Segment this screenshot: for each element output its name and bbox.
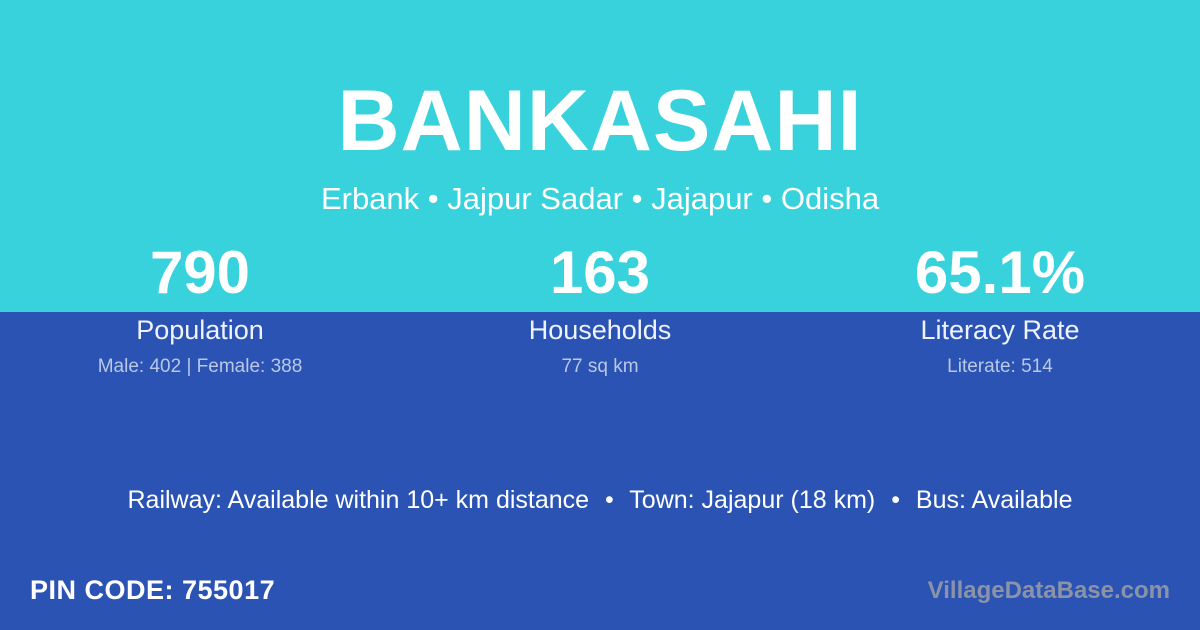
page-title: BANKASAHI <box>0 78 1200 164</box>
stats-row: 790 Population Male: 402 | Female: 388 1… <box>0 243 1200 376</box>
stat-value-population: 790 <box>0 243 400 307</box>
village-info-card: BANKASAHI Erbank • Jajpur Sadar • Jajapu… <box>0 0 1200 630</box>
stat-literacy-rate: 65.1% Literacy Rate Literate: 514 <box>800 243 1200 376</box>
stat-value-households: 163 <box>400 243 800 307</box>
card-header: BANKASAHI Erbank • Jajpur Sadar • Jajapu… <box>0 0 1200 214</box>
breadcrumb: Erbank • Jajpur Sadar • Jajapur • Odisha <box>0 183 1200 214</box>
bullet-separator-icon: • <box>596 485 623 515</box>
stat-value-literacy-rate: 65.1% <box>800 243 1200 307</box>
stat-households: 163 Households 77 sq km <box>400 243 800 376</box>
infra-town: Town: Jajapur (18 km) <box>629 486 875 514</box>
stat-population: 790 Population Male: 402 | Female: 388 <box>0 243 400 376</box>
infra-railway: Railway: Available within 10+ km distanc… <box>127 486 589 514</box>
stat-sub-population: Male: 402 | Female: 388 <box>0 357 400 376</box>
card-footer: PIN CODE: 755017 VillageDataBase.com <box>0 575 1200 630</box>
infrastructure-line: Railway: Available within 10+ km distanc… <box>0 485 1200 515</box>
infra-bus: Bus: Available <box>916 486 1073 514</box>
bullet-separator-icon: • <box>882 485 909 515</box>
brand-watermark: VillageDataBase.com <box>928 579 1170 603</box>
stat-sub-literacy-rate: Literate: 514 <box>800 357 1200 376</box>
stat-label-literacy-rate: Literacy Rate <box>800 317 1200 344</box>
stat-sub-households: 77 sq km <box>400 357 800 376</box>
pin-code-label: PIN CODE: 755017 <box>30 577 275 604</box>
stat-label-population: Population <box>0 317 400 344</box>
stat-label-households: Households <box>400 317 800 344</box>
